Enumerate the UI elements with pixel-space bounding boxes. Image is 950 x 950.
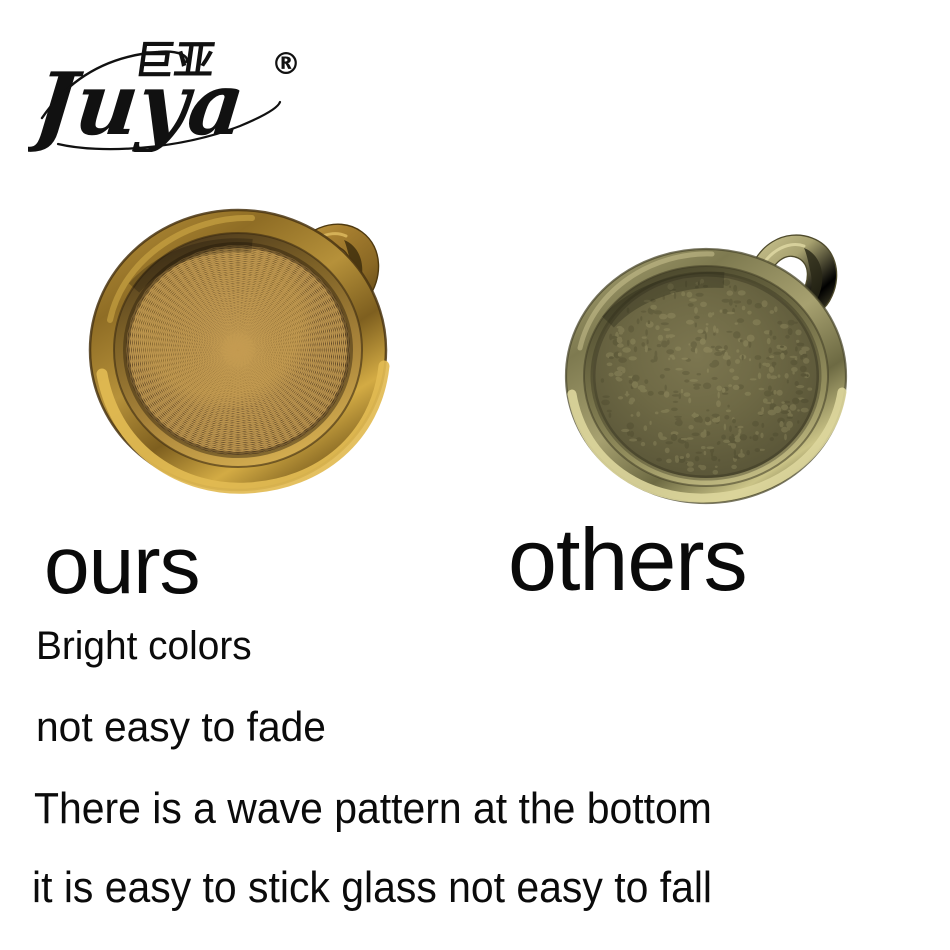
well-speckle bbox=[752, 435, 758, 441]
well-speckle bbox=[617, 337, 623, 344]
well-speckle bbox=[773, 336, 777, 340]
well-speckle bbox=[721, 435, 726, 440]
well-speckle bbox=[681, 389, 683, 393]
well-speckle bbox=[790, 404, 797, 411]
well-speckle bbox=[733, 331, 741, 338]
well-speckle bbox=[609, 356, 614, 359]
well-speckle bbox=[700, 432, 706, 438]
well-speckle bbox=[704, 451, 707, 455]
well-speckle bbox=[750, 378, 757, 380]
well-speckle bbox=[724, 352, 728, 359]
well-speckle bbox=[657, 458, 660, 460]
well-speckle bbox=[697, 329, 703, 333]
well-speckle bbox=[690, 379, 698, 382]
well-speckle bbox=[673, 401, 679, 403]
well-speckle bbox=[796, 390, 804, 395]
well-speckle bbox=[747, 335, 755, 342]
well-speckle bbox=[688, 398, 691, 404]
well-speckle bbox=[666, 335, 670, 339]
well-speckle bbox=[792, 398, 799, 404]
well-speckle bbox=[636, 411, 640, 417]
well-speckle bbox=[755, 431, 759, 435]
well-speckle bbox=[713, 470, 719, 475]
well-speckle bbox=[745, 392, 751, 396]
well-speckle bbox=[772, 362, 777, 366]
well-speckle bbox=[735, 322, 738, 324]
well-speckle bbox=[667, 313, 676, 319]
well-speckle bbox=[695, 348, 698, 354]
well-speckle bbox=[698, 465, 702, 468]
well-speckle bbox=[672, 357, 676, 360]
well-speckle bbox=[749, 436, 751, 439]
well-speckle bbox=[648, 320, 651, 324]
well-speckle bbox=[688, 303, 694, 307]
feature-line-wave-pattern: There is a wave pattern at the bottom bbox=[34, 787, 712, 831]
well-speckle bbox=[660, 374, 665, 379]
well-speckle bbox=[603, 400, 610, 405]
well-speckle bbox=[711, 346, 715, 348]
well-speckle bbox=[738, 426, 744, 429]
well-speckle bbox=[764, 390, 772, 396]
well-speckle bbox=[792, 371, 794, 374]
pendant-others-svg bbox=[560, 186, 880, 496]
well-speckle bbox=[637, 318, 640, 324]
well-speckle bbox=[622, 347, 631, 352]
well-speckle bbox=[618, 352, 622, 356]
well-speckle bbox=[602, 395, 609, 398]
well-speckle bbox=[714, 352, 722, 356]
well-speckle bbox=[718, 459, 720, 462]
well-speckle bbox=[740, 339, 743, 342]
well-speckle bbox=[733, 285, 737, 292]
well-speckle bbox=[746, 450, 750, 455]
well-speckle bbox=[729, 299, 733, 306]
well-speckle bbox=[705, 417, 710, 423]
well-speckle bbox=[686, 453, 690, 458]
well-speckle bbox=[795, 330, 801, 336]
well-speckle bbox=[791, 367, 798, 372]
well-speckle bbox=[666, 349, 674, 354]
well-speckle bbox=[715, 466, 718, 468]
well-speckle bbox=[699, 418, 703, 423]
well-speckle bbox=[736, 349, 739, 353]
well-speckle bbox=[617, 343, 624, 347]
well-speckle bbox=[607, 410, 612, 413]
well-speckle bbox=[641, 342, 645, 347]
well-speckle bbox=[720, 310, 723, 313]
well-speckle bbox=[630, 339, 635, 345]
well-speckle bbox=[735, 426, 738, 428]
well-speckle bbox=[742, 306, 746, 311]
well-speckle bbox=[673, 391, 678, 394]
well-speckle bbox=[634, 346, 637, 352]
well-speckle bbox=[762, 300, 768, 307]
well-speckle bbox=[767, 338, 771, 344]
well-speckle bbox=[691, 341, 697, 348]
well-speckle bbox=[755, 303, 762, 309]
well-speckle bbox=[706, 409, 709, 411]
well-speckle bbox=[713, 333, 716, 336]
well-speckle bbox=[661, 410, 669, 413]
well-speckle bbox=[650, 421, 652, 425]
well-speckle bbox=[716, 400, 721, 407]
well-speckle bbox=[648, 391, 654, 396]
well-speckle bbox=[616, 377, 621, 380]
well-speckle bbox=[640, 316, 642, 321]
well-speckle bbox=[664, 391, 670, 397]
well-speckle bbox=[797, 420, 799, 423]
well-speckle bbox=[629, 380, 633, 384]
brand-logo-svg: 巨亚 ® Juya bbox=[28, 22, 328, 152]
brand-latin-text: Juya bbox=[28, 54, 249, 152]
well-speckle bbox=[711, 451, 713, 457]
well-speckle bbox=[629, 356, 637, 360]
well-speckle bbox=[665, 385, 667, 391]
well-speckle bbox=[671, 408, 678, 412]
well-speckle bbox=[701, 446, 706, 449]
well-speckle bbox=[692, 433, 700, 437]
well-speckle bbox=[712, 418, 720, 423]
well-speckle bbox=[771, 399, 773, 404]
well-speckle bbox=[694, 386, 699, 388]
well-speckle bbox=[664, 368, 670, 371]
well-speckle bbox=[780, 346, 784, 348]
well-speckle bbox=[630, 431, 634, 437]
well-speckle bbox=[684, 392, 691, 396]
well-speckle bbox=[642, 336, 647, 338]
brand-logo: 巨亚 ® Juya bbox=[28, 22, 328, 152]
well-speckle bbox=[759, 362, 762, 368]
well-speckle bbox=[703, 347, 710, 353]
well-speckle bbox=[640, 389, 647, 393]
well-speckle bbox=[800, 366, 807, 373]
well-speckle bbox=[789, 356, 797, 358]
well-speckle bbox=[781, 427, 788, 433]
well-speckle bbox=[731, 465, 737, 469]
well-speckle bbox=[684, 379, 689, 382]
well-speckle bbox=[617, 326, 623, 329]
well-speckle bbox=[661, 341, 668, 348]
well-speckle bbox=[726, 331, 732, 333]
well-speckle bbox=[774, 306, 777, 312]
well-speckle bbox=[735, 438, 741, 442]
well-speckle bbox=[777, 321, 782, 325]
well-speckle bbox=[733, 300, 741, 303]
well-speckle bbox=[618, 357, 627, 363]
well-speckle bbox=[807, 388, 812, 391]
well-speckle bbox=[707, 369, 709, 373]
well-speckle bbox=[760, 433, 763, 439]
well-speckle bbox=[617, 366, 624, 371]
well-speckle bbox=[697, 373, 702, 375]
well-speckle bbox=[781, 411, 789, 414]
well-speckle bbox=[682, 371, 690, 375]
well-speckle bbox=[727, 405, 729, 408]
well-speckle bbox=[778, 374, 781, 377]
well-speckle bbox=[648, 310, 656, 313]
well-speckle bbox=[645, 345, 648, 352]
well-speckle bbox=[769, 355, 774, 358]
feature-line-bright-colors: Bright colors bbox=[36, 626, 252, 666]
well-speckle bbox=[773, 352, 781, 355]
well-speckle bbox=[675, 457, 679, 463]
well-speckle bbox=[687, 467, 694, 472]
well-speckle bbox=[729, 425, 732, 432]
well-speckle bbox=[749, 358, 751, 361]
well-speckle bbox=[636, 437, 642, 441]
well-speckle bbox=[774, 406, 782, 413]
well-speckle bbox=[685, 442, 690, 449]
well-speckle bbox=[683, 438, 687, 441]
well-speckle bbox=[671, 434, 678, 441]
well-speckle bbox=[722, 299, 730, 303]
well-speckle bbox=[767, 373, 771, 379]
well-speckle bbox=[742, 355, 744, 361]
well-speckle bbox=[680, 456, 685, 459]
well-speckle bbox=[768, 385, 772, 391]
well-speckle bbox=[712, 377, 718, 380]
well-speckle bbox=[795, 381, 799, 386]
well-speckle bbox=[787, 380, 789, 384]
label-others: others bbox=[508, 516, 747, 604]
well-speckle bbox=[628, 325, 634, 332]
well-speckle bbox=[687, 437, 694, 440]
well-speckle bbox=[687, 461, 694, 466]
well-speckle bbox=[728, 443, 736, 446]
well-speckle bbox=[773, 390, 776, 395]
well-speckle bbox=[735, 305, 737, 308]
well-speckle bbox=[655, 325, 659, 330]
well-speckle bbox=[686, 320, 694, 325]
well-speckle bbox=[743, 340, 748, 347]
well-speckle bbox=[732, 376, 739, 380]
well-speckle bbox=[769, 366, 774, 373]
well-speckle bbox=[781, 404, 788, 410]
well-speckle bbox=[753, 319, 761, 325]
well-speckle bbox=[740, 434, 748, 440]
well-speckle bbox=[732, 419, 736, 424]
well-speckle bbox=[676, 419, 683, 426]
well-speckle bbox=[738, 453, 745, 458]
label-ours: ours bbox=[44, 525, 200, 607]
well-speckle bbox=[675, 368, 682, 371]
well-speckle bbox=[779, 421, 783, 427]
well-speckle bbox=[665, 448, 670, 454]
well-speckle bbox=[790, 360, 797, 366]
well-speckle bbox=[709, 362, 717, 367]
well-speckle bbox=[626, 391, 629, 397]
well-speckle bbox=[722, 388, 725, 393]
well-speckle bbox=[627, 422, 635, 429]
well-speckle bbox=[727, 359, 731, 366]
well-speckle bbox=[650, 305, 657, 310]
well-speckle bbox=[755, 448, 760, 452]
well-speckle bbox=[688, 425, 693, 430]
well-speckle bbox=[759, 388, 765, 390]
well-speckle bbox=[708, 312, 713, 317]
well-speckle bbox=[705, 333, 707, 340]
well-speckle bbox=[802, 354, 808, 358]
well-speckle bbox=[801, 408, 809, 413]
well-speckle bbox=[780, 324, 788, 329]
well-speckle bbox=[655, 412, 659, 415]
well-speckle bbox=[724, 424, 726, 431]
well-speckle bbox=[803, 358, 809, 364]
well-speckle bbox=[659, 314, 667, 320]
well-speckle bbox=[734, 449, 736, 456]
well-speckle bbox=[758, 373, 761, 380]
well-speckle bbox=[726, 410, 731, 413]
well-speckle bbox=[664, 328, 671, 331]
well-speckle bbox=[621, 429, 629, 432]
well-speckle bbox=[658, 432, 663, 438]
well-speckle bbox=[614, 371, 623, 377]
well-speckle bbox=[770, 375, 777, 379]
well-speckle bbox=[761, 407, 764, 413]
well-speckle bbox=[645, 329, 648, 336]
well-speckle bbox=[706, 323, 709, 325]
well-speckle bbox=[795, 346, 798, 351]
feature-line-stick-glass: it is easy to stick glass not easy to fa… bbox=[32, 866, 712, 910]
well-speckle bbox=[770, 310, 774, 314]
well-speckle bbox=[724, 415, 729, 420]
well-speckle bbox=[653, 441, 657, 446]
well-speckle bbox=[729, 286, 731, 289]
well-speckle bbox=[735, 359, 740, 364]
well-speckle bbox=[695, 456, 700, 461]
well-speckle bbox=[731, 434, 734, 439]
well-speckle bbox=[718, 349, 724, 351]
well-speckle bbox=[700, 338, 706, 344]
well-speckle bbox=[696, 293, 704, 297]
well-speckle bbox=[675, 347, 681, 351]
well-speckle bbox=[788, 328, 793, 335]
well-speckle bbox=[681, 358, 688, 360]
well-speckle bbox=[796, 343, 804, 347]
well-speckle bbox=[694, 316, 700, 320]
well-speckle bbox=[762, 363, 767, 366]
pendant-others bbox=[560, 186, 880, 496]
well-speckle bbox=[655, 351, 658, 358]
well-speckle bbox=[705, 327, 708, 333]
well-speckle bbox=[728, 384, 732, 387]
well-speckle bbox=[718, 392, 720, 399]
well-speckle bbox=[672, 394, 680, 397]
well-speckle bbox=[722, 393, 729, 395]
well-speckle bbox=[801, 373, 807, 376]
well-speckle bbox=[747, 311, 751, 315]
well-speckle bbox=[780, 353, 784, 360]
well-speckle bbox=[768, 347, 772, 353]
well-speckle bbox=[752, 421, 759, 427]
well-speckle bbox=[668, 358, 670, 361]
well-speckle bbox=[727, 312, 735, 315]
well-speckle bbox=[689, 298, 697, 302]
well-speckle bbox=[644, 427, 647, 431]
well-speckle bbox=[665, 441, 673, 444]
well-speckle bbox=[629, 439, 637, 442]
well-speckle bbox=[631, 414, 634, 417]
well-speckle bbox=[737, 318, 744, 323]
well-speckle bbox=[703, 383, 711, 390]
registered-mark-text: ® bbox=[271, 47, 301, 82]
well-speckle bbox=[674, 416, 682, 418]
well-speckle bbox=[796, 340, 799, 343]
well-speckle bbox=[695, 323, 697, 328]
well-speckle bbox=[675, 418, 681, 420]
well-speckle bbox=[807, 374, 809, 377]
well-speckle bbox=[618, 396, 623, 399]
well-speckle bbox=[667, 340, 670, 345]
well-speckle bbox=[627, 340, 630, 346]
well-speckle bbox=[601, 378, 604, 383]
well-speckle bbox=[712, 414, 720, 418]
well-speckle bbox=[644, 379, 648, 384]
well-speckle bbox=[632, 381, 638, 388]
well-speckle bbox=[786, 421, 793, 428]
well-speckle bbox=[729, 368, 734, 372]
well-speckle bbox=[607, 363, 613, 367]
well-speckle bbox=[784, 434, 787, 441]
feature-line-not-easy-to-fade: not easy to fade bbox=[36, 706, 326, 748]
well-speckle bbox=[706, 446, 714, 449]
well-speckle bbox=[787, 417, 793, 419]
well-speckle bbox=[609, 413, 612, 418]
well-speckle bbox=[609, 336, 617, 339]
well-speckle bbox=[765, 402, 771, 404]
well-speckle bbox=[738, 290, 746, 295]
well-speckle bbox=[666, 459, 672, 463]
well-speckle bbox=[641, 442, 645, 446]
well-speckle bbox=[650, 359, 655, 362]
well-speckle bbox=[609, 373, 614, 377]
well-speckle bbox=[674, 292, 676, 299]
well-speckle bbox=[785, 373, 789, 379]
well-speckle bbox=[661, 322, 669, 325]
well-speckle bbox=[755, 355, 762, 360]
well-speckle bbox=[777, 390, 783, 396]
pendant-ours-svg bbox=[72, 170, 402, 500]
well-speckle bbox=[658, 335, 663, 341]
well-speckle bbox=[733, 385, 740, 390]
well-speckle bbox=[717, 386, 723, 392]
well-speckle bbox=[797, 409, 800, 411]
well-speckle bbox=[657, 344, 662, 347]
well-speckle bbox=[801, 347, 809, 352]
product-comparison-canvas: 巨亚 ® Juya bbox=[0, 0, 950, 950]
well-speckle bbox=[793, 322, 798, 324]
well-speckle bbox=[770, 437, 774, 441]
well-speckle bbox=[691, 414, 699, 418]
well-speckle bbox=[681, 292, 685, 297]
well-speckle bbox=[694, 307, 698, 314]
pendant-ours bbox=[72, 170, 402, 500]
well-speckle bbox=[700, 302, 707, 307]
well-speckle bbox=[785, 335, 790, 339]
well-speckle bbox=[713, 325, 716, 332]
well-speckle bbox=[687, 292, 693, 298]
well-speckle bbox=[641, 311, 647, 313]
well-speckle bbox=[629, 398, 635, 403]
well-speckle bbox=[773, 433, 779, 437]
well-speckle bbox=[696, 452, 703, 454]
well-speckle bbox=[769, 330, 772, 336]
well-speckle bbox=[747, 299, 752, 305]
well-speckle bbox=[781, 401, 784, 403]
well-speckle bbox=[801, 399, 809, 403]
well-speckle bbox=[716, 328, 719, 333]
well-speckle bbox=[688, 343, 690, 345]
